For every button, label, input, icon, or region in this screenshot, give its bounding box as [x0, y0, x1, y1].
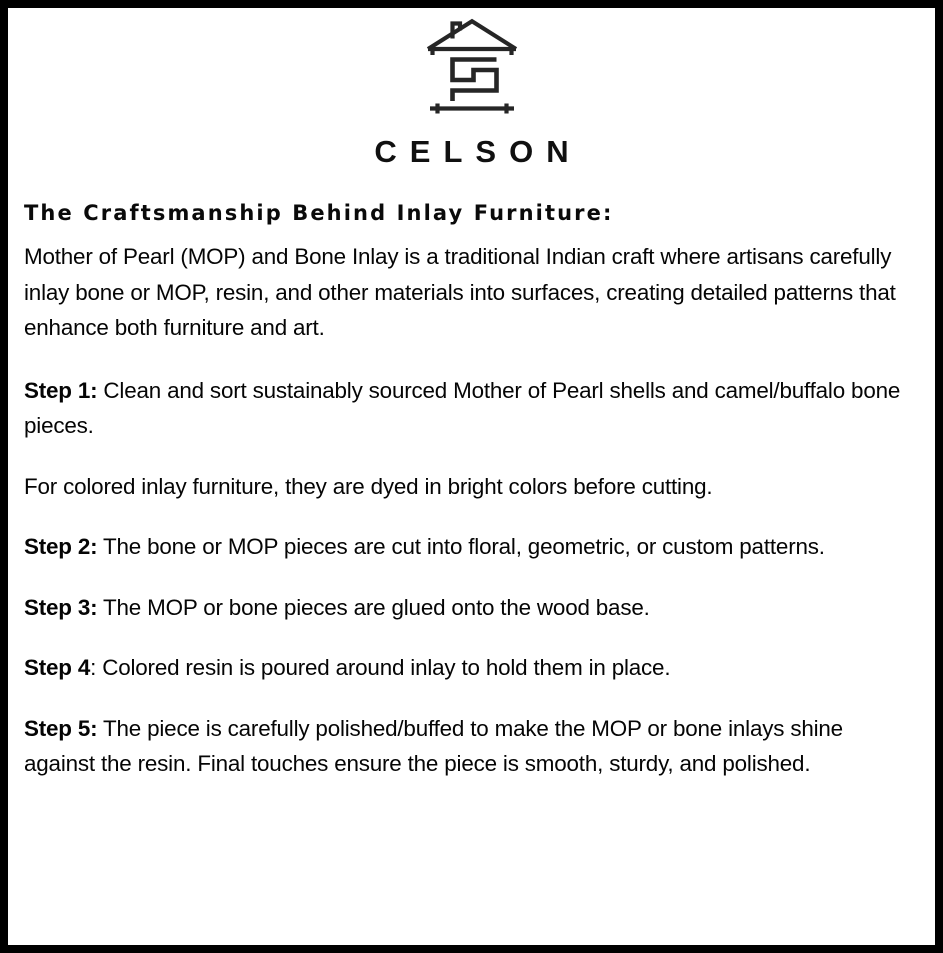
- paragraph-intro: Mother of Pearl (MOP) and Bone Inlay is …: [24, 239, 914, 346]
- poster-content: CELSON The Craftsmanship Behind Inlay Fu…: [8, 8, 935, 945]
- paragraph-step-2: Step 2: The bone or MOP pieces are cut i…: [24, 529, 914, 565]
- step-2-label: Step 2:: [24, 534, 97, 559]
- step-5-label: Step 5:: [24, 716, 97, 741]
- step-5-text: The piece is carefully polished/buffed t…: [24, 716, 843, 777]
- step-3-text: The MOP or bone pieces are glued onto th…: [97, 595, 649, 620]
- brand-block: CELSON: [16, 12, 927, 167]
- house-with-monogram-icon: [422, 18, 522, 122]
- paragraph-step-4: Step 4: Colored resin is poured around i…: [24, 650, 914, 686]
- step-1-label: Step 1:: [24, 378, 97, 403]
- paragraph-intro-text: Mother of Pearl (MOP) and Bone Inlay is …: [24, 244, 896, 340]
- paragraph-step-1: Step 1: Clean and sort sustainably sourc…: [24, 373, 914, 444]
- paragraph-step-3: Step 3: The MOP or bone pieces are glued…: [24, 590, 914, 626]
- paragraph-colored-note: For colored inlay furniture, they are dy…: [24, 469, 914, 505]
- paragraph-step-5: Step 5: The piece is carefully polished/…: [24, 711, 914, 782]
- step-1-text: Clean and sort sustainably sourced Mothe…: [24, 378, 900, 439]
- poster-frame: CELSON The Craftsmanship Behind Inlay Fu…: [0, 0, 943, 953]
- step-2-text: The bone or MOP pieces are cut into flor…: [97, 534, 824, 559]
- brand-name: CELSON: [16, 136, 927, 167]
- step-4-label: Step 4: [24, 655, 90, 680]
- page-title: The Craftsmanship Behind Inlay Furniture…: [24, 201, 927, 225]
- step-3-label: Step 3:: [24, 595, 97, 620]
- article-body: Mother of Pearl (MOP) and Bone Inlay is …: [24, 225, 927, 782]
- step-4-text: Colored resin is poured around inlay to …: [96, 655, 670, 680]
- colored-note-text: For colored inlay furniture, they are dy…: [24, 474, 712, 499]
